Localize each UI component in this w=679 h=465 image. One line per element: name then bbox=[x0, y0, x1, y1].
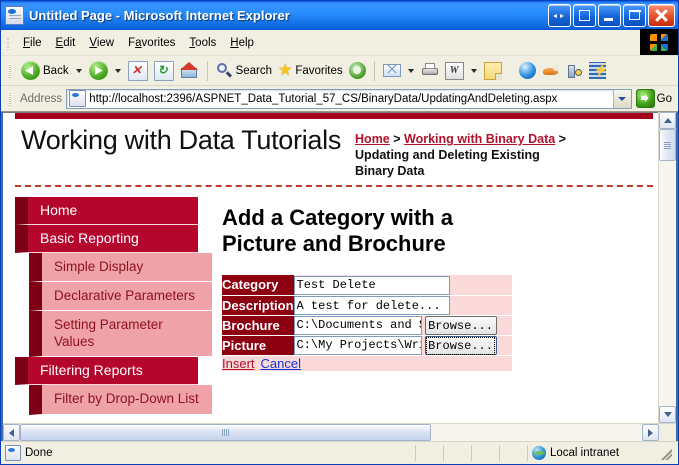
table-row: Picture C:\My Projects\Writing Browse... bbox=[222, 336, 512, 356]
minimize-button[interactable] bbox=[598, 4, 621, 27]
back-icon bbox=[21, 61, 40, 80]
table-row: Category bbox=[222, 275, 512, 295]
status-pane-4 bbox=[500, 445, 528, 461]
chevron-down-icon[interactable] bbox=[613, 90, 631, 108]
menu-edit[interactable]: Edit bbox=[49, 34, 83, 52]
home-icon bbox=[180, 62, 199, 79]
sidebar-item-filter-by-drop-down-list[interactable]: Filter by Drop-Down List bbox=[29, 385, 212, 415]
menu-drag-grip[interactable] bbox=[5, 34, 13, 52]
insert-form-table: Category Description bbox=[222, 275, 512, 371]
page-icon bbox=[69, 90, 86, 107]
home-button[interactable] bbox=[177, 59, 202, 83]
brochure-file-input[interactable]: C:\Documents and Set Browse... bbox=[294, 316, 512, 335]
scroll-right-button[interactable] bbox=[642, 424, 659, 441]
edit-word-icon: W bbox=[445, 62, 464, 80]
field-label-category: Category bbox=[222, 275, 294, 295]
search-button[interactable]: Search bbox=[213, 59, 275, 83]
mail-dropdown-icon[interactable] bbox=[408, 69, 414, 73]
field-label-description: Description bbox=[222, 295, 294, 316]
vertical-scroll-track[interactable] bbox=[659, 129, 676, 406]
picture-file-input[interactable]: C:\My Projects\Writing Browse... bbox=[294, 336, 512, 355]
sidebar-item-basic-reporting[interactable]: Basic Reporting bbox=[15, 225, 198, 253]
table-row: Description bbox=[222, 295, 512, 316]
scroll-up-button[interactable] bbox=[659, 112, 676, 129]
address-bar: Address http://localhost:2396/ASPNET_Dat… bbox=[1, 86, 678, 112]
horizontal-scroll-thumb[interactable] bbox=[20, 424, 431, 441]
table-row: InsertCancel bbox=[222, 356, 512, 372]
brochure-browse-button[interactable]: Browse... bbox=[425, 316, 497, 335]
research-button[interactable] bbox=[563, 59, 586, 83]
back-button[interactable]: Back bbox=[18, 59, 72, 83]
separate-window-button[interactable] bbox=[573, 4, 596, 27]
favorites-button[interactable]: ★ Favorites bbox=[275, 59, 346, 83]
toolbar-drag-grip[interactable] bbox=[7, 62, 15, 80]
description-input[interactable] bbox=[294, 296, 450, 315]
edit-button[interactable]: W bbox=[442, 59, 467, 83]
breadcrumb-link-section[interactable]: Working with Binary Data bbox=[404, 132, 555, 146]
browser-window: Untitled Page - Microsoft Internet Explo… bbox=[0, 0, 679, 465]
research-icon bbox=[566, 62, 583, 79]
field-label-brochure: Brochure bbox=[222, 316, 294, 336]
notes-button[interactable] bbox=[481, 59, 505, 83]
media-icon bbox=[349, 62, 366, 79]
print-icon bbox=[421, 63, 439, 78]
windows-flag-icon bbox=[640, 29, 678, 55]
forward-icon bbox=[89, 61, 108, 80]
page-content: Working with Data Tutorials Home > Worki… bbox=[3, 112, 658, 423]
page-icon bbox=[5, 6, 24, 25]
vertical-scrollbar[interactable] bbox=[658, 112, 676, 423]
breadcrumb-sep-1: > bbox=[390, 132, 404, 146]
forward-dropdown-icon[interactable] bbox=[115, 69, 121, 73]
sidebar-item-simple-display[interactable]: Simple Display bbox=[29, 253, 212, 282]
cancel-link[interactable]: Cancel bbox=[261, 356, 301, 371]
media-button[interactable] bbox=[346, 59, 369, 83]
vertical-scroll-thumb[interactable] bbox=[659, 129, 676, 161]
menu-favorites[interactable]: Favorites bbox=[121, 34, 182, 52]
menu-tools[interactable]: Tools bbox=[182, 34, 223, 52]
sidebar-nav: Home Basic Reporting Simple Display Decl… bbox=[3, 187, 212, 415]
brochure-browse-label: Browse... bbox=[428, 319, 493, 333]
fox-button[interactable] bbox=[539, 59, 563, 83]
site-title: Working with Data Tutorials bbox=[15, 125, 341, 156]
category-input[interactable] bbox=[294, 276, 450, 295]
picture-browse-label: Browse... bbox=[428, 339, 493, 353]
status-message-pane: Done bbox=[1, 445, 416, 461]
print-button[interactable] bbox=[418, 59, 442, 83]
page-viewport: Working with Data Tutorials Home > Worki… bbox=[1, 112, 678, 441]
favorites-star-icon: ★ bbox=[278, 63, 292, 79]
breadcrumb-sep-2: > bbox=[555, 132, 566, 146]
window-title: Untitled Page - Microsoft Internet Explo… bbox=[29, 8, 548, 23]
resize-grip[interactable] bbox=[658, 446, 672, 460]
left-right-arrows-icon bbox=[553, 14, 557, 18]
picture-browse-button[interactable]: Browse... bbox=[425, 336, 497, 355]
favorites-label: Favorites bbox=[295, 65, 342, 77]
window-export-icon bbox=[579, 10, 590, 21]
address-label: Address bbox=[20, 93, 62, 105]
security-zone-pane[interactable]: Local intranet bbox=[528, 445, 678, 461]
fox-icon bbox=[542, 63, 560, 78]
search-icon bbox=[216, 62, 233, 79]
minimize-icon bbox=[604, 18, 613, 21]
row-spacer bbox=[450, 295, 512, 316]
horizontal-scroll-track[interactable] bbox=[20, 424, 642, 441]
stop-button[interactable]: ✕ bbox=[125, 59, 151, 83]
breadcrumb: Home > Working with Binary Data > Updati… bbox=[341, 125, 569, 179]
sidebar-item-filtering-reports[interactable]: Filtering Reports bbox=[15, 357, 198, 385]
sidebar-item-home[interactable]: Home bbox=[15, 197, 198, 225]
messenger-button[interactable] bbox=[516, 59, 539, 83]
field-label-picture: Picture bbox=[222, 336, 294, 356]
close-button[interactable] bbox=[648, 4, 675, 27]
search-label: Search bbox=[236, 65, 272, 77]
back-label: Back bbox=[43, 65, 69, 77]
messenger-orb-icon bbox=[519, 62, 536, 79]
maximize-button[interactable] bbox=[623, 4, 646, 27]
toolbar-separator bbox=[207, 61, 208, 81]
page-icon bbox=[5, 445, 21, 461]
menu-bar: File Edit View Favorites Tools Help bbox=[1, 30, 678, 56]
sidebar-item-declarative-parameters[interactable]: Declarative Parameters bbox=[29, 282, 212, 311]
notes-icon bbox=[484, 62, 502, 80]
mail-icon bbox=[383, 64, 401, 77]
refresh-icon: ↻ bbox=[154, 61, 174, 81]
status-pane-1 bbox=[416, 445, 444, 461]
insert-link[interactable]: Insert bbox=[222, 356, 255, 371]
go-label: Go bbox=[657, 93, 672, 105]
stop-icon: ✕ bbox=[128, 61, 148, 81]
table-row: Brochure C:\Documents and Set Browse... bbox=[222, 316, 512, 336]
status-bar: Done Local intranet bbox=[1, 441, 678, 464]
sidebar-item-setting-parameter-values[interactable]: Setting Parameter Values bbox=[29, 311, 212, 357]
security-zone-label: Local intranet bbox=[550, 447, 619, 459]
picture-file-path[interactable]: C:\My Projects\Writing bbox=[294, 336, 422, 355]
page-header: Working with Data Tutorials Home > Worki… bbox=[15, 119, 653, 187]
scroll-left-button[interactable] bbox=[3, 424, 20, 441]
go-button[interactable]: Go bbox=[634, 89, 678, 108]
window-buttons bbox=[548, 4, 675, 27]
form-commands: InsertCancel bbox=[222, 356, 512, 372]
title-bar: Untitled Page - Microsoft Internet Explo… bbox=[1, 1, 678, 30]
breadcrumb-current: Updating and Deleting Existing Binary Da… bbox=[355, 148, 540, 178]
brochure-file-path[interactable]: C:\Documents and Set bbox=[294, 316, 422, 335]
status-message: Done bbox=[25, 447, 53, 459]
restore-group-button[interactable] bbox=[548, 4, 571, 27]
highlighter-button[interactable] bbox=[586, 59, 609, 83]
main-content: Add a Category with a Picture and Brochu… bbox=[212, 187, 658, 415]
status-pane-2 bbox=[444, 445, 472, 461]
globe-icon bbox=[532, 446, 546, 460]
forward-button[interactable] bbox=[86, 59, 111, 83]
horizontal-scrollbar[interactable] bbox=[3, 423, 676, 441]
refresh-button[interactable]: ↻ bbox=[151, 59, 177, 83]
menu-help[interactable]: Help bbox=[223, 34, 261, 52]
breadcrumb-link-home[interactable]: Home bbox=[355, 132, 390, 146]
address-input[interactable]: http://localhost:2396/ASPNET_Data_Tutori… bbox=[66, 89, 631, 109]
toolbar-separator-2 bbox=[374, 61, 375, 81]
menu-view[interactable]: View bbox=[82, 34, 121, 52]
menu-file[interactable]: File bbox=[16, 34, 49, 52]
status-pane-3 bbox=[472, 445, 500, 461]
page-heading: Add a Category with a Picture and Brochu… bbox=[222, 205, 512, 257]
maximize-icon bbox=[629, 10, 640, 20]
highlighter-icon bbox=[589, 62, 606, 79]
address-drag-grip[interactable] bbox=[7, 90, 15, 108]
go-arrow-icon bbox=[636, 89, 655, 108]
mail-button[interactable] bbox=[380, 59, 404, 83]
scroll-down-button[interactable] bbox=[659, 406, 676, 423]
main-toolbar: Back ✕ ↻ Search ★ Favorites bbox=[1, 56, 678, 86]
back-dropdown-icon[interactable] bbox=[76, 69, 82, 73]
address-url-text: http://localhost:2396/ASPNET_Data_Tutori… bbox=[89, 93, 612, 105]
edit-dropdown-icon[interactable] bbox=[471, 69, 477, 73]
scrollbar-corner bbox=[659, 424, 676, 441]
row-spacer bbox=[450, 275, 512, 295]
